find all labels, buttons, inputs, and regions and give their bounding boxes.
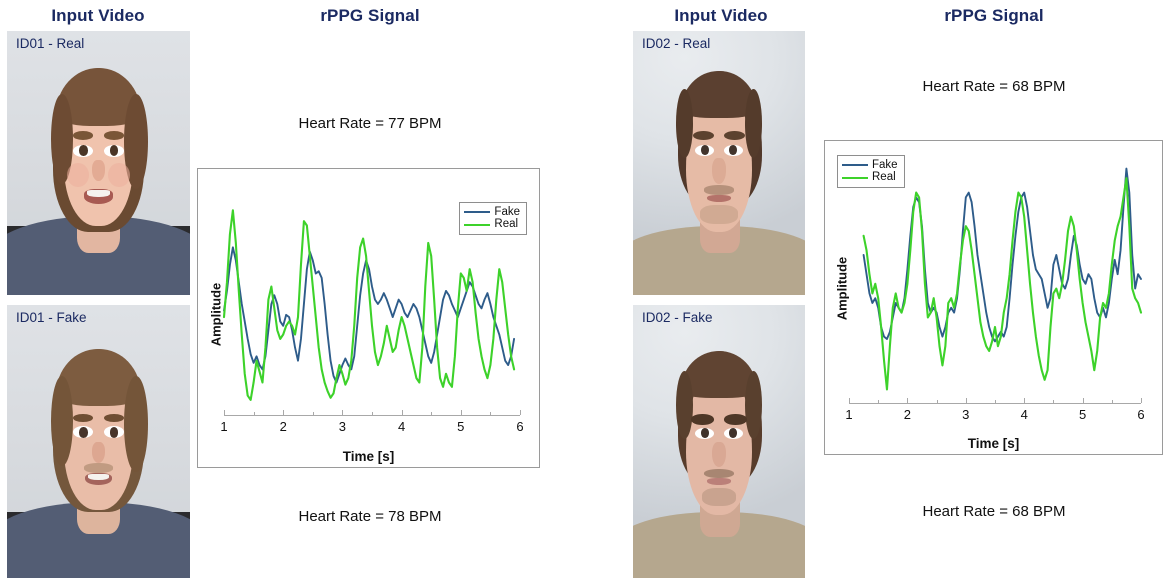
xtick-major [1083, 398, 1084, 403]
xtick-major [1024, 398, 1025, 403]
legend-label-fake: Fake [872, 159, 898, 171]
xtick-label: 6 [516, 419, 523, 434]
right-chart-legend[interactable]: Fake Real [837, 155, 905, 188]
xtick-major [520, 410, 521, 415]
xtick-major [849, 398, 850, 403]
legend-label-real: Real [872, 171, 896, 183]
video-thumbnail-id02-real[interactable]: ID02 - Real [633, 31, 805, 295]
video-label-id01-fake: ID01 - Fake [16, 310, 87, 325]
xtick-label: 2 [904, 407, 911, 422]
xtick-major [966, 398, 967, 403]
xtick-major [402, 410, 403, 415]
legend-swatch-fake [842, 164, 868, 166]
xtick-minor [372, 412, 373, 415]
xtick-label: 3 [962, 407, 969, 422]
video-label-id02-real: ID02 - Real [642, 36, 710, 51]
right-rppg-chart[interactable]: Amplitude 123456 Time [s] Fake Real [824, 140, 1163, 455]
legend-swatch-real [842, 177, 868, 179]
series-fake-line [864, 169, 1141, 342]
xtick-label: 3 [339, 419, 346, 434]
xtick-label: 2 [280, 419, 287, 434]
xtick-minor [254, 412, 255, 415]
video-label-id01-real: ID01 - Real [16, 36, 84, 51]
legend-entry-fake: Fake [842, 159, 898, 171]
xtick-minor [490, 412, 491, 415]
left-chart-xlabel: Time [s] [198, 449, 539, 464]
xtick-minor [431, 412, 432, 415]
portrait-id02-fake [633, 305, 805, 578]
legend-swatch-real [464, 224, 490, 226]
series-real-line [224, 210, 514, 400]
xtick-label: 5 [1079, 407, 1086, 422]
xtick-label: 4 [398, 419, 405, 434]
right-rppg-signal-header: rPPG Signal [824, 6, 1164, 26]
video-thumbnail-id01-real[interactable]: ID01 - Real [7, 31, 190, 295]
video-thumbnail-id01-fake[interactable]: ID01 - Fake [7, 305, 190, 578]
xtick-label: 5 [457, 419, 464, 434]
right-input-video-header: Input Video [626, 6, 816, 26]
heart-rate-id02-real: Heart Rate = 68 BPM [824, 78, 1164, 95]
right-chart-xaxis [849, 403, 1141, 404]
legend-entry-fake: Fake [464, 206, 520, 218]
video-thumbnail-id02-fake[interactable]: ID02 - Fake [633, 305, 805, 578]
xtick-major [224, 410, 225, 415]
legend-label-fake: Fake [494, 206, 520, 218]
xtick-label: 1 [220, 419, 227, 434]
legend-entry-real: Real [842, 171, 898, 183]
portrait-id01-fake [7, 305, 190, 578]
heart-rate-id01-real: Heart Rate = 77 BPM [200, 115, 540, 132]
xtick-minor [1053, 400, 1054, 403]
portrait-id02-real [633, 31, 805, 295]
xtick-major [907, 398, 908, 403]
legend-swatch-fake [464, 211, 490, 213]
xtick-major [342, 410, 343, 415]
right-chart-plot [825, 141, 1164, 456]
xtick-minor [1112, 400, 1113, 403]
xtick-label: 6 [1137, 407, 1144, 422]
xtick-major [1141, 398, 1142, 403]
left-rppg-chart[interactable]: Amplitude 123456 Time [s] Fake Real [197, 168, 540, 468]
legend-entry-real: Real [464, 218, 520, 230]
xtick-minor [995, 400, 996, 403]
xtick-minor [313, 412, 314, 415]
left-rppg-signal-header: rPPG Signal [200, 6, 540, 26]
xtick-minor [937, 400, 938, 403]
left-chart-xaxis [224, 415, 520, 416]
video-label-id02-fake: ID02 - Fake [642, 310, 713, 325]
legend-label-real: Real [494, 218, 518, 230]
xtick-label: 4 [1021, 407, 1028, 422]
xtick-major [461, 410, 462, 415]
heart-rate-id01-fake: Heart Rate = 78 BPM [200, 508, 540, 525]
xtick-major [283, 410, 284, 415]
xtick-minor [878, 400, 879, 403]
portrait-id01-real [7, 31, 190, 295]
xtick-label: 1 [845, 407, 852, 422]
left-input-video-header: Input Video [0, 6, 196, 26]
heart-rate-id02-fake: Heart Rate = 68 BPM [824, 503, 1164, 520]
left-chart-legend[interactable]: Fake Real [459, 202, 527, 235]
right-chart-xlabel: Time [s] [825, 436, 1162, 451]
